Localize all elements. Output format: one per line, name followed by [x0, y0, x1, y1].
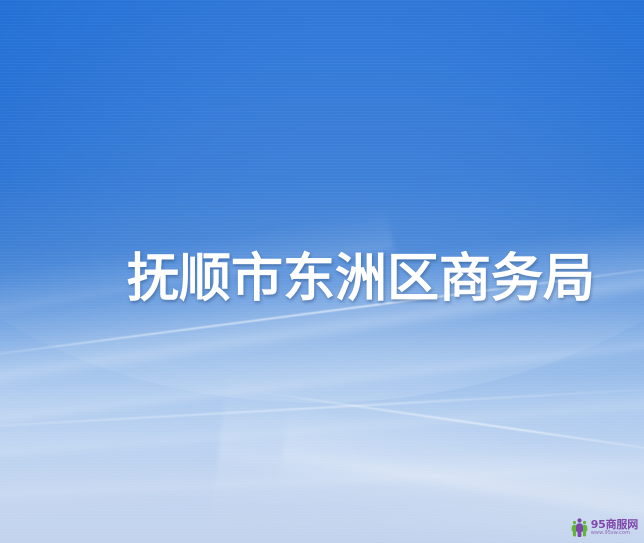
page-title: 抚顺市东洲区商务局	[127, 249, 595, 309]
watermark: 95商服网 www.95sw.com	[571, 517, 638, 537]
watermark-url: www.95sw.com	[591, 531, 638, 536]
people-group-icon	[571, 517, 588, 537]
site-banner: 抚顺市东洲区商务局 95商服网 www.95sw.com	[0, 0, 644, 543]
watermark-text-block: 95商服网 www.95sw.com	[591, 519, 638, 536]
watermark-name: 95商服网	[591, 519, 638, 530]
